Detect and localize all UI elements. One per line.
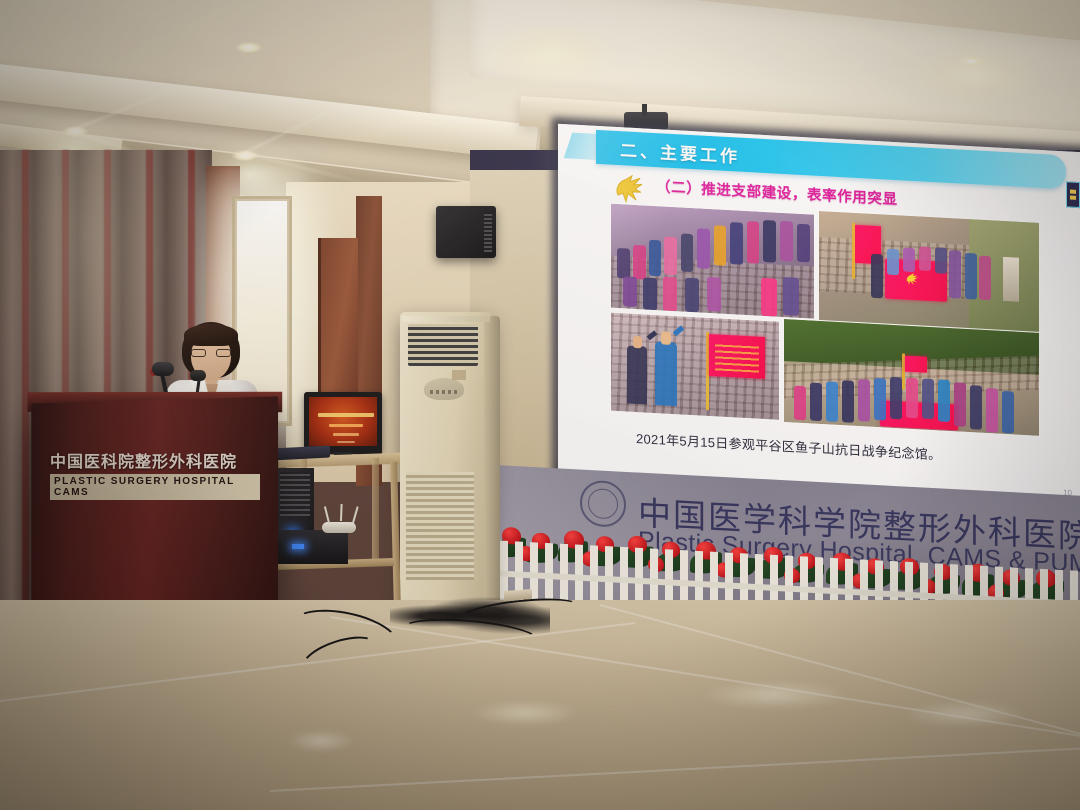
presenter-monitor[interactable] <box>304 392 382 454</box>
router-antenna-1 <box>324 506 330 523</box>
ac-upper-grille <box>408 324 478 366</box>
slide-photo-3 <box>610 312 780 421</box>
floor-reflection-2 <box>470 700 580 726</box>
conference-room-photo: 二、主要工作 （二）推进支部建设，表率作用突显 <box>0 0 1080 810</box>
tower-vent <box>280 472 310 516</box>
speaker-grille <box>484 212 492 252</box>
ac-top-trim <box>402 316 490 322</box>
router-antenna-2 <box>340 504 343 521</box>
hair-fringe <box>184 324 238 346</box>
monitor-screen <box>309 397 377 446</box>
ac-side-panel <box>484 316 500 610</box>
presentation-slide: 二、主要工作 （二）推进支部建设，表率作用突显 <box>558 124 1080 504</box>
ac-lower-grille <box>406 472 474 580</box>
power-strip <box>504 589 532 601</box>
slide-photo-2 <box>818 210 1040 334</box>
router-antenna-3 <box>352 506 359 523</box>
table-leg-back-right <box>372 458 379 566</box>
audio-amplifier <box>268 530 348 564</box>
floor-reflection-3 <box>700 680 850 710</box>
downlight-4 <box>958 56 984 67</box>
ac-control-panel[interactable] <box>424 378 464 400</box>
slide-photo-grid <box>610 199 1040 437</box>
slide-photo-1 <box>610 203 815 320</box>
podium-name-chinese: 中国医科院整形外科医院 <box>50 448 250 472</box>
glasses-icon <box>191 349 231 357</box>
wifi-router <box>322 522 356 533</box>
wall-speaker <box>436 206 496 258</box>
ac-control-buttons[interactable] <box>430 390 458 394</box>
podium-name-english: PLASTIC SURGERY HOSPITAL CAMS <box>50 474 260 500</box>
slide-edge-badge-icon <box>1066 181 1080 208</box>
ac-brand-logo-icon <box>452 370 466 380</box>
slide-caption: 2021年5月15日参观平谷区鱼子山抗日战争纪念馆。 <box>636 428 941 464</box>
downlight-3 <box>236 42 262 53</box>
floor-reflection-1 <box>286 730 356 752</box>
projector-mount <box>642 104 647 116</box>
slide-photo-4 <box>783 318 1040 437</box>
slide-banner-title: 二、主要工作 <box>620 136 740 167</box>
floor-reflection-4 <box>900 700 1030 728</box>
amplifier-led <box>292 544 304 549</box>
projection-screen[interactable]: 二、主要工作 （二）推进支部建设，表率作用突显 <box>558 124 1080 504</box>
